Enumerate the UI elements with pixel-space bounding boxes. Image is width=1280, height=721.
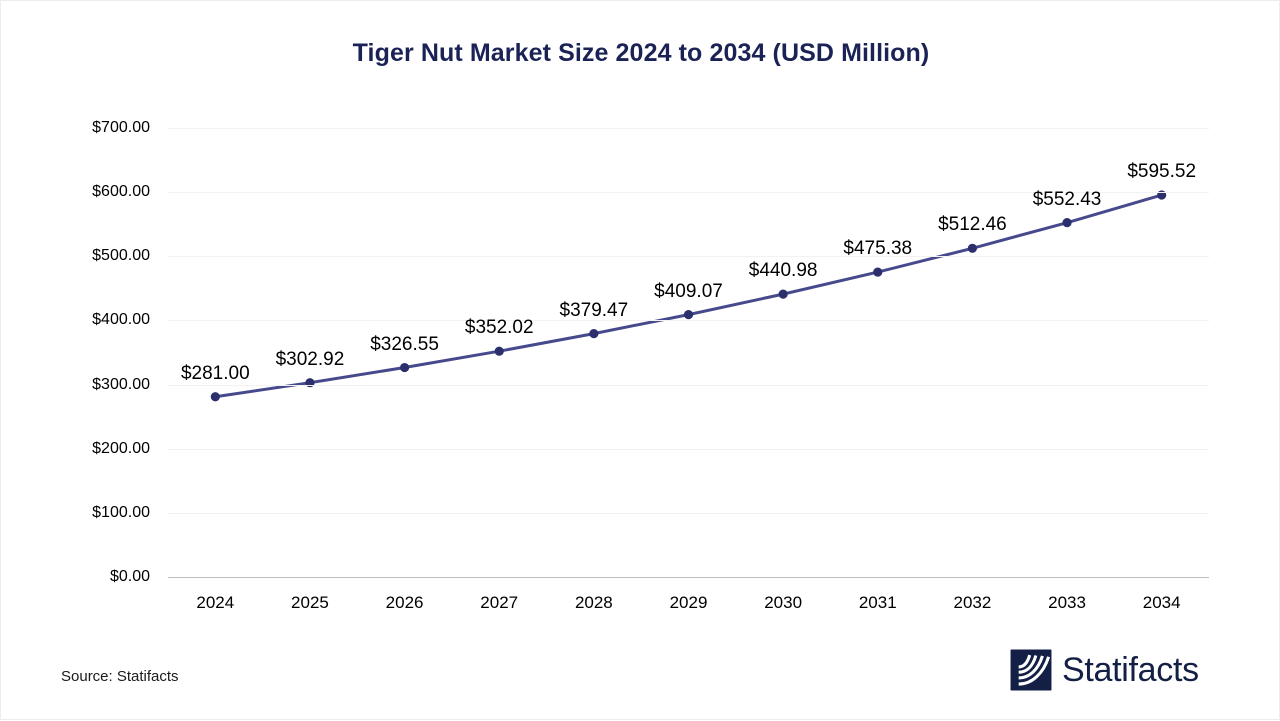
statifacts-waves-icon <box>1009 648 1053 692</box>
chart-frame: Tiger Nut Market Size 2024 to 2034 (USD … <box>0 0 1280 720</box>
data-point-marker <box>684 310 693 319</box>
y-axis-tick-label: $600.00 <box>92 183 150 201</box>
chart-title: Tiger Nut Market Size 2024 to 2034 (USD … <box>1 39 1280 68</box>
data-point-marker <box>495 347 504 356</box>
x-axis-tick-label: 2028 <box>575 593 613 613</box>
data-point-marker <box>873 267 882 276</box>
data-point-marker <box>589 329 598 338</box>
data-point-marker <box>400 363 409 372</box>
x-axis-tick-label: 2026 <box>386 593 424 613</box>
gridline <box>168 128 1209 129</box>
series-line <box>215 195 1161 397</box>
gridline <box>168 256 1209 257</box>
gridline <box>168 320 1209 321</box>
gridline <box>168 513 1209 514</box>
x-axis-tick-label: 2031 <box>859 593 897 613</box>
x-axis-tick-label: 2024 <box>196 593 234 613</box>
x-axis-tick-label: 2029 <box>670 593 708 613</box>
source-note: Source: Statifacts <box>61 668 179 685</box>
data-point-marker <box>305 378 314 387</box>
data-point-marker <box>779 290 788 299</box>
gridline <box>168 449 1209 450</box>
data-point-marker <box>968 244 977 253</box>
y-axis-tick-label: $300.00 <box>92 376 150 394</box>
x-axis-tick-label: 2032 <box>953 593 991 613</box>
data-point-marker <box>1062 218 1071 227</box>
x-axis-tick-label: 2034 <box>1143 593 1181 613</box>
gridline <box>168 577 1209 578</box>
plot-area <box>168 128 1209 577</box>
y-axis-tick-label: $200.00 <box>92 440 150 458</box>
x-axis-tick-label: 2030 <box>764 593 802 613</box>
x-axis-tick-label: 2027 <box>480 593 518 613</box>
x-axis-tick-label: 2033 <box>1048 593 1086 613</box>
y-axis-tick-label: $400.00 <box>92 311 150 329</box>
y-axis-tick-label: $0.00 <box>110 568 150 586</box>
data-point-marker <box>211 392 220 401</box>
line-series <box>168 128 1209 577</box>
x-axis-tick-label: 2025 <box>291 593 329 613</box>
brand-logo: Statifacts <box>1009 648 1199 692</box>
y-axis-tick-label: $700.00 <box>92 119 150 137</box>
x-axis: 2024202520262027202820292030203120322033… <box>1 593 1280 619</box>
y-axis-tick-label: $100.00 <box>92 504 150 522</box>
y-axis-tick-label: $500.00 <box>92 247 150 265</box>
brand-wordmark: Statifacts <box>1062 653 1199 687</box>
gridline <box>168 385 1209 386</box>
gridline <box>168 192 1209 193</box>
